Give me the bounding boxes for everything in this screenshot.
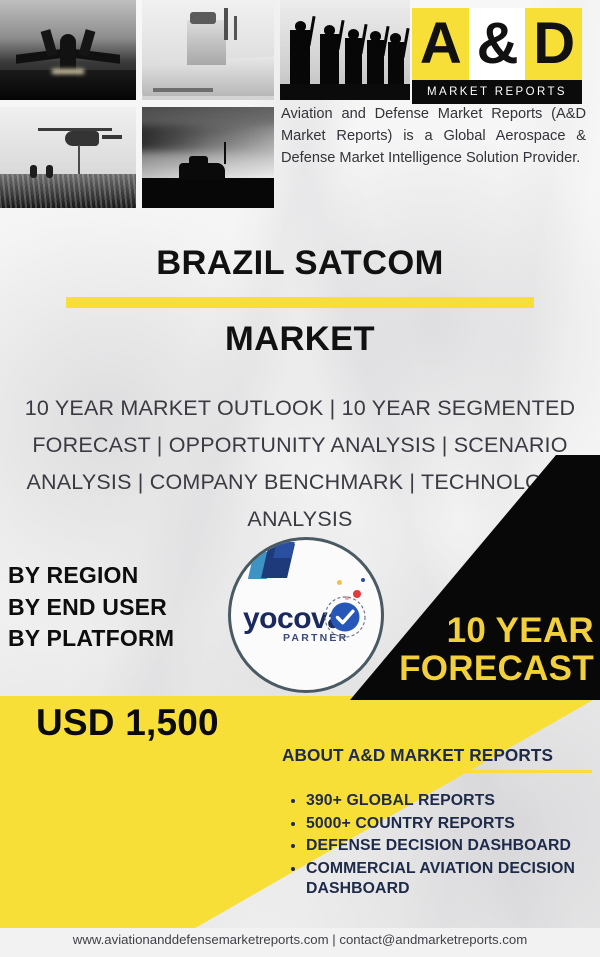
- armored-vehicle-photo: [142, 107, 274, 208]
- about-list-item: COMMERCIAL AVIATION DECISION DASHBOARD: [306, 859, 592, 900]
- about-heading: ABOUT A&D MARKET REPORTS: [282, 745, 592, 766]
- report-poster: A & D MARKET REPORTS Aviation and Defens…: [0, 0, 600, 957]
- price-label: USD 1,500: [36, 702, 219, 744]
- report-title: BRAZIL SATCOM MARKET: [0, 244, 600, 359]
- logo-letter-a: A: [412, 8, 469, 80]
- footer-contact-text: www.aviationanddefensemarketreports.com …: [0, 932, 600, 947]
- forecast-line-2: FORECAST: [294, 650, 594, 688]
- soldiers-silhouette-photo: [280, 0, 410, 100]
- title-divider: [66, 297, 534, 308]
- ad-market-reports-logo: A & D MARKET REPORTS: [412, 8, 582, 104]
- about-list-item: 5000+ COUNTRY REPORTS: [306, 814, 592, 835]
- forecast-line-1: 10 YEAR: [294, 612, 594, 650]
- logo-letters: A & D: [412, 8, 582, 80]
- report-scope-text: 10 YEAR MARKET OUTLOOK | 10 YEAR SEGMENT…: [18, 390, 582, 538]
- logo-tagline: MARKET REPORTS: [427, 86, 567, 98]
- about-list-item: 390+ GLOBAL REPORTS: [306, 791, 592, 812]
- badge-decoration-shape: [273, 542, 295, 558]
- helicopter-photo: [0, 107, 136, 208]
- fighter-jet-photo: [0, 0, 136, 100]
- about-bullet-list: 390+ GLOBAL REPORTS 5000+ COUNTRY REPORT…: [306, 791, 592, 900]
- segmentation-item: BY END USER: [8, 592, 174, 624]
- about-heading-underline: [282, 770, 592, 773]
- segmentation-item: BY REGION: [8, 560, 174, 592]
- company-intro-text: Aviation and Defense Market Reports (A&D…: [281, 103, 586, 170]
- forecast-callout: 10 YEAR FORECAST: [294, 612, 594, 688]
- logo-ampersand: &: [469, 8, 526, 80]
- about-list-item: DEFENSE DECISION DASHBOARD: [306, 836, 592, 857]
- segmentation-item: BY PLATFORM: [8, 623, 174, 655]
- about-section: ABOUT A&D MARKET REPORTS 390+ GLOBAL REP…: [282, 745, 592, 902]
- naval-ship-photo: [142, 0, 274, 100]
- logo-tagline-bar: MARKET REPORTS: [412, 80, 582, 104]
- title-line-2: MARKET: [0, 320, 600, 359]
- logo-letter-d: D: [525, 8, 582, 80]
- segmentation-list: BY REGION BY END USER BY PLATFORM: [8, 560, 174, 655]
- title-line-1: BRAZIL SATCOM: [0, 244, 600, 283]
